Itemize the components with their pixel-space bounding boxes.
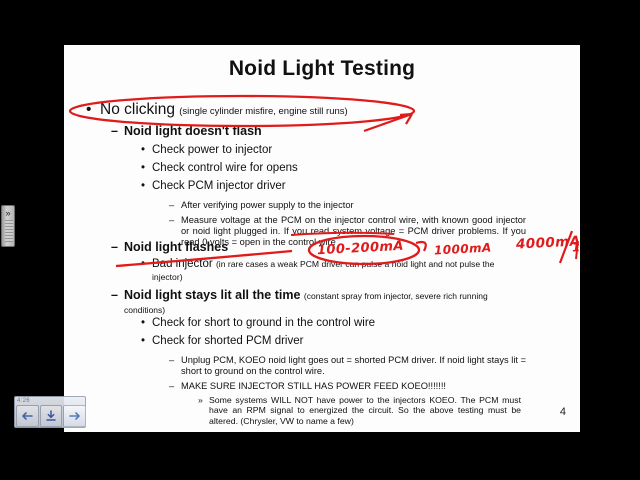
toolbar-time-label: 4:26	[17, 398, 30, 404]
bullet-some-systems-text: Some systems WILL NOT have power to the …	[209, 395, 521, 426]
expand-panel-tab[interactable]: »	[1, 205, 15, 247]
bullet-noid-light-stays-lit: Noid light stays lit all the time (const…	[124, 289, 519, 316]
ink-text-4000ma: 4000mA	[516, 233, 580, 252]
bullet-after-verifying-text: After verifying power supply to the inje…	[181, 200, 354, 210]
ink-text-1000ma: 1000mA	[434, 241, 492, 258]
bullet-bad-injector-text: Bad injector	[152, 258, 213, 270]
bullet-noid-light-doesnt-flash-text: Noid light doesn't flash	[124, 124, 262, 138]
bullet-check-control-wire: Check control wire for opens	[152, 162, 298, 175]
bullet-check-power: Check power to injector	[152, 144, 272, 157]
arrow-left-icon	[20, 411, 34, 421]
bullet-check-short-ground-text: Check for short to ground in the control…	[152, 317, 375, 329]
bullet-noid-light-doesnt-flash: Noid light doesn't flash	[124, 125, 262, 139]
bullet-check-power-text: Check power to injector	[152, 144, 272, 156]
slide-page-number: 4	[560, 406, 566, 418]
download-arrow-icon	[45, 410, 57, 422]
bullet-no-clicking-note: (single cylinder misfire, engine still r…	[179, 106, 347, 117]
bullet-no-clicking: No clicking (single cylinder misfire, en…	[100, 102, 348, 118]
bullet-noid-light-flashes: Noid light flashes	[124, 241, 228, 255]
bullet-check-shorted-pcm-text: Check for shorted PCM driver	[152, 335, 303, 347]
bullet-check-shorted-pcm: Check for shorted PCM driver	[152, 335, 303, 348]
bullet-make-sure-injector-text: MAKE SURE INJECTOR STILL HAS POWER FEED …	[181, 381, 446, 391]
slide-canvas: Noid Light Testing No clicking (single c…	[64, 45, 580, 432]
bullet-some-systems: Some systems WILL NOT have power to the …	[209, 395, 521, 426]
bullet-after-verifying: After verifying power supply to the inje…	[181, 200, 531, 211]
slide-content: Noid Light Testing No clicking (single c…	[64, 45, 580, 432]
bullet-unplug-pcm: Unplug PCM, KOEO noid light goes out = s…	[181, 355, 526, 377]
video-stage: Noid Light Testing No clicking (single c…	[0, 0, 640, 480]
bullet-check-control-wire-text: Check control wire for opens	[152, 162, 298, 174]
bullet-unplug-pcm-text: Unplug PCM, KOEO noid light goes out = s…	[181, 355, 526, 376]
next-slide-button[interactable]	[63, 405, 86, 427]
download-button[interactable]	[40, 405, 63, 427]
bullet-check-short-ground: Check for short to ground in the control…	[152, 317, 375, 330]
previous-slide-button[interactable]	[16, 405, 39, 427]
slide-title-text: Noid Light Testing	[229, 57, 415, 80]
bullet-no-clicking-text: No clicking	[100, 101, 175, 118]
ink-arrowhead-no-clicking	[400, 114, 412, 124]
bullet-check-pcm-driver: Check PCM injector driver	[152, 180, 286, 193]
playback-mini-toolbar[interactable]: 4:26	[14, 396, 86, 428]
bullet-noid-light-stays-lit-text: Noid light stays lit all the time	[124, 288, 300, 302]
arrow-right-icon	[68, 411, 82, 421]
bullet-noid-light-flashes-text: Noid light flashes	[124, 240, 228, 254]
slide-title: Noid Light Testing	[64, 57, 580, 81]
ink-text-1000ma-right: 1000mA	[572, 238, 580, 255]
ink-text-100-200ma: 100-200mA	[317, 239, 405, 259]
bullet-check-pcm-driver-text: Check PCM injector driver	[152, 180, 286, 192]
tab-grip	[5, 220, 13, 242]
toolbar-button-group	[16, 405, 86, 427]
double-chevron-right-icon: »	[5, 209, 10, 218]
bullet-make-sure-injector: MAKE SURE INJECTOR STILL HAS POWER FEED …	[181, 381, 531, 392]
bullet-bad-injector: Bad injector (in rare cases a weak PCM d…	[152, 258, 507, 283]
ink-arrow-no-clicking	[364, 114, 412, 131]
